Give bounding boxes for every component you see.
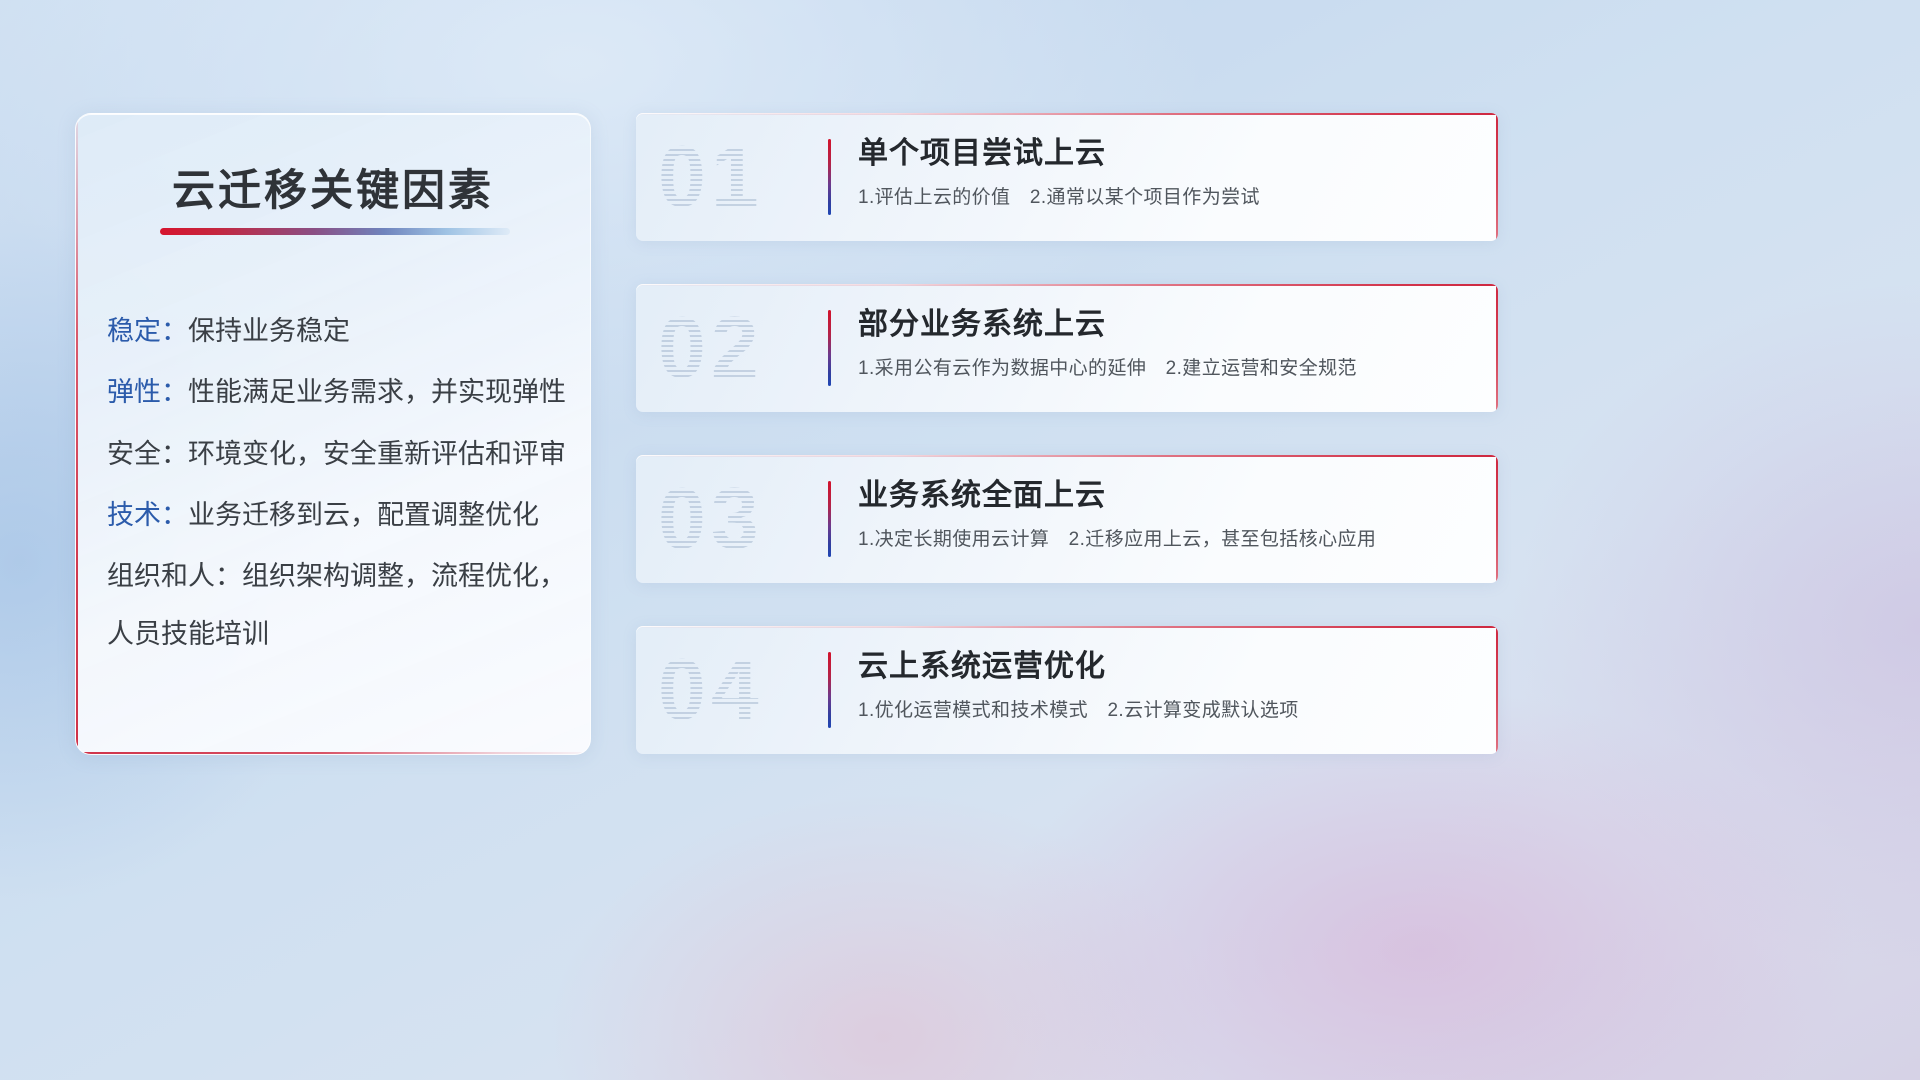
factor-label: 弹性：	[107, 373, 188, 411]
step-title: 单个项目尝试上云	[858, 135, 1476, 173]
step-card[interactable]: 04 云上系统运营优化 1.优化运营模式和技术模式 2.云计算变成默认选项	[636, 626, 1498, 754]
step-number-watermark: 03	[658, 476, 764, 562]
step-card-body: 业务系统全面上云 1.决定长期使用云计算 2.迁移应用上云，甚至包括核心应用	[858, 477, 1476, 552]
factor-text: 组织架构调整，流程优化，	[242, 557, 566, 595]
list-item: 技术： 业务迁移到云，配置调整优化	[107, 496, 566, 534]
key-factors-list: 稳定： 保持业务稳定 弹性： 性能满足业务需求，并实现弹性 安全： 环境变化，安…	[107, 312, 566, 675]
step-number-watermark: 02	[658, 305, 764, 391]
panel-title: 云迁移关键因素	[76, 156, 590, 218]
list-item-continuation: 人员技能培训	[107, 615, 566, 653]
list-item: 组织和人： 组织架构调整，流程优化，	[107, 557, 566, 595]
step-card[interactable]: 02 部分业务系统上云 1.采用公有云作为数据中心的延伸 2.建立运营和安全规范	[636, 284, 1498, 412]
step-card-body: 云上系统运营优化 1.优化运营模式和技术模式 2.云计算变成默认选项	[858, 648, 1476, 723]
factor-label: 技术：	[107, 496, 188, 534]
factor-text: 性能满足业务需求，并实现弹性	[188, 373, 566, 411]
step-subtitle: 1.决定长期使用云计算 2.迁移应用上云，甚至包括核心应用	[858, 528, 1476, 553]
step-divider-bar	[828, 481, 831, 557]
migration-steps-list: 01 单个项目尝试上云 1.评估上云的价值 2.通常以某个项目作为尝试 02 部…	[636, 113, 1498, 797]
step-divider-bar	[828, 652, 831, 728]
factor-label: 稳定：	[107, 312, 188, 350]
slide-canvas: 云迁移关键因素 稳定： 保持业务稳定 弹性： 性能满足业务需求，并实现弹性 安全…	[0, 0, 1920, 1080]
list-item: 弹性： 性能满足业务需求，并实现弹性	[107, 373, 566, 411]
factor-label: 组织和人：	[107, 557, 242, 595]
step-title: 部分业务系统上云	[858, 306, 1476, 344]
step-title: 业务系统全面上云	[858, 477, 1476, 515]
step-card[interactable]: 03 业务系统全面上云 1.决定长期使用云计算 2.迁移应用上云，甚至包括核心应…	[636, 455, 1498, 583]
factor-label: 安全：	[107, 435, 188, 473]
step-divider-bar	[828, 139, 831, 215]
factor-text-continuation: 人员技能培训	[107, 615, 269, 653]
step-subtitle: 1.采用公有云作为数据中心的延伸 2.建立运营和安全规范	[858, 357, 1476, 382]
step-divider-bar	[828, 310, 831, 386]
title-underline-rule	[160, 228, 510, 235]
step-number-watermark: 04	[658, 647, 764, 733]
factor-text: 业务迁移到云，配置调整优化	[188, 496, 539, 534]
list-item: 安全： 环境变化，安全重新评估和评审	[107, 435, 566, 473]
list-item: 稳定： 保持业务稳定	[107, 312, 566, 350]
factor-text: 保持业务稳定	[188, 312, 350, 350]
step-card[interactable]: 01 单个项目尝试上云 1.评估上云的价值 2.通常以某个项目作为尝试	[636, 113, 1498, 241]
step-subtitle: 1.评估上云的价值 2.通常以某个项目作为尝试	[858, 186, 1476, 211]
step-subtitle: 1.优化运营模式和技术模式 2.云计算变成默认选项	[858, 699, 1476, 724]
step-number-watermark: 01	[658, 134, 764, 220]
step-card-body: 单个项目尝试上云 1.评估上云的价值 2.通常以某个项目作为尝试	[858, 135, 1476, 210]
factor-text: 环境变化，安全重新评估和评审	[188, 435, 566, 473]
step-title: 云上系统运营优化	[858, 648, 1476, 686]
step-card-body: 部分业务系统上云 1.采用公有云作为数据中心的延伸 2.建立运营和安全规范	[858, 306, 1476, 381]
key-factors-panel: 云迁移关键因素 稳定： 保持业务稳定 弹性： 性能满足业务需求，并实现弹性 安全…	[75, 113, 591, 755]
